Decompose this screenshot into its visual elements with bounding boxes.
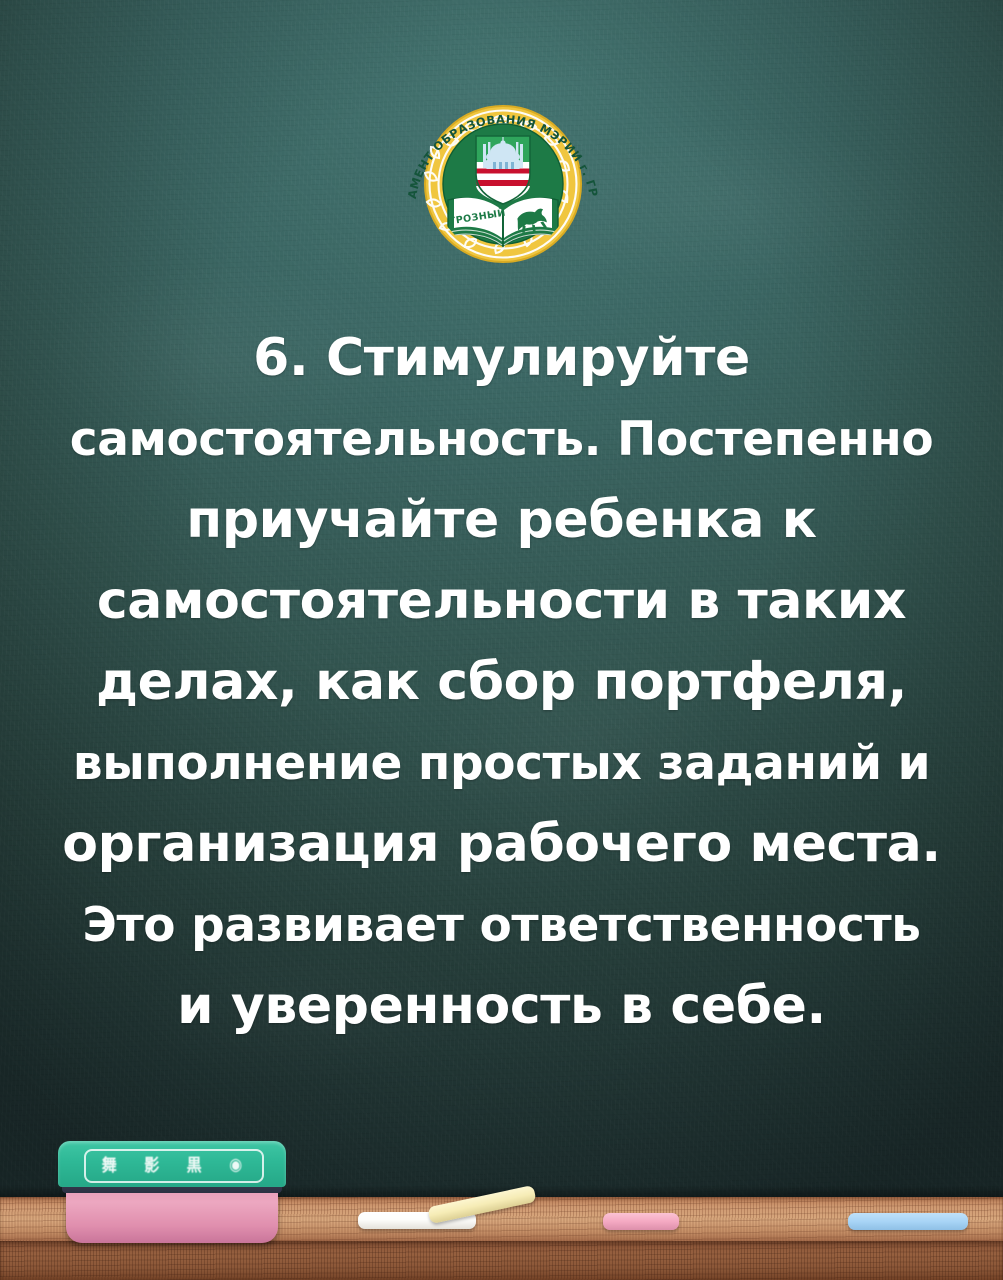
headline-line: Это развивает ответственность — [18, 885, 985, 966]
eraser-glyph: ◉ — [229, 1154, 242, 1175]
slide-canvas: ДЕПАРТАМЕНТ ОБРАЗОВАНИЯ МЭРИИ г. ГРОЗНОГ… — [0, 0, 1003, 1280]
eraser-top: 舞 影 黒 ◉ — [58, 1141, 286, 1187]
eraser-glyph: 舞 — [102, 1152, 117, 1176]
headline-line: и уверенность в себе. — [18, 966, 985, 1047]
headline-line: организация рабочего места. — [18, 804, 985, 885]
eraser-glyph: 黒 — [187, 1152, 202, 1176]
headline-line: выполнение простых заданий и — [18, 723, 985, 804]
emblem-mosque-shield — [476, 136, 530, 204]
headline-text: 6. Стимулируйте самостоятельность. Посте… — [18, 318, 985, 1047]
eraser-body — [66, 1185, 278, 1243]
chalk-blue — [848, 1213, 968, 1230]
department-emblem-logo: ДЕПАРТАМЕНТ ОБРАЗОВАНИЯ МЭРИИ г. ГРОЗНОГ… — [398, 86, 608, 270]
headline-line: самостоятельности в таких — [18, 561, 985, 642]
chalk-pink — [603, 1213, 679, 1230]
headline-line: делах, как сбор портфеля, — [18, 642, 985, 723]
eraser-glyph: 影 — [144, 1152, 159, 1176]
headline-line: самостоятельность. Постепенно — [18, 399, 985, 480]
chalkboard-eraser: 舞 影 黒 ◉ — [58, 1141, 286, 1247]
headline-line: 6. Стимулируйте — [18, 318, 985, 399]
eraser-label-glyphs: 舞 影 黒 ◉ — [88, 1150, 256, 1178]
headline-line: приучайте ребенка к — [18, 480, 985, 561]
